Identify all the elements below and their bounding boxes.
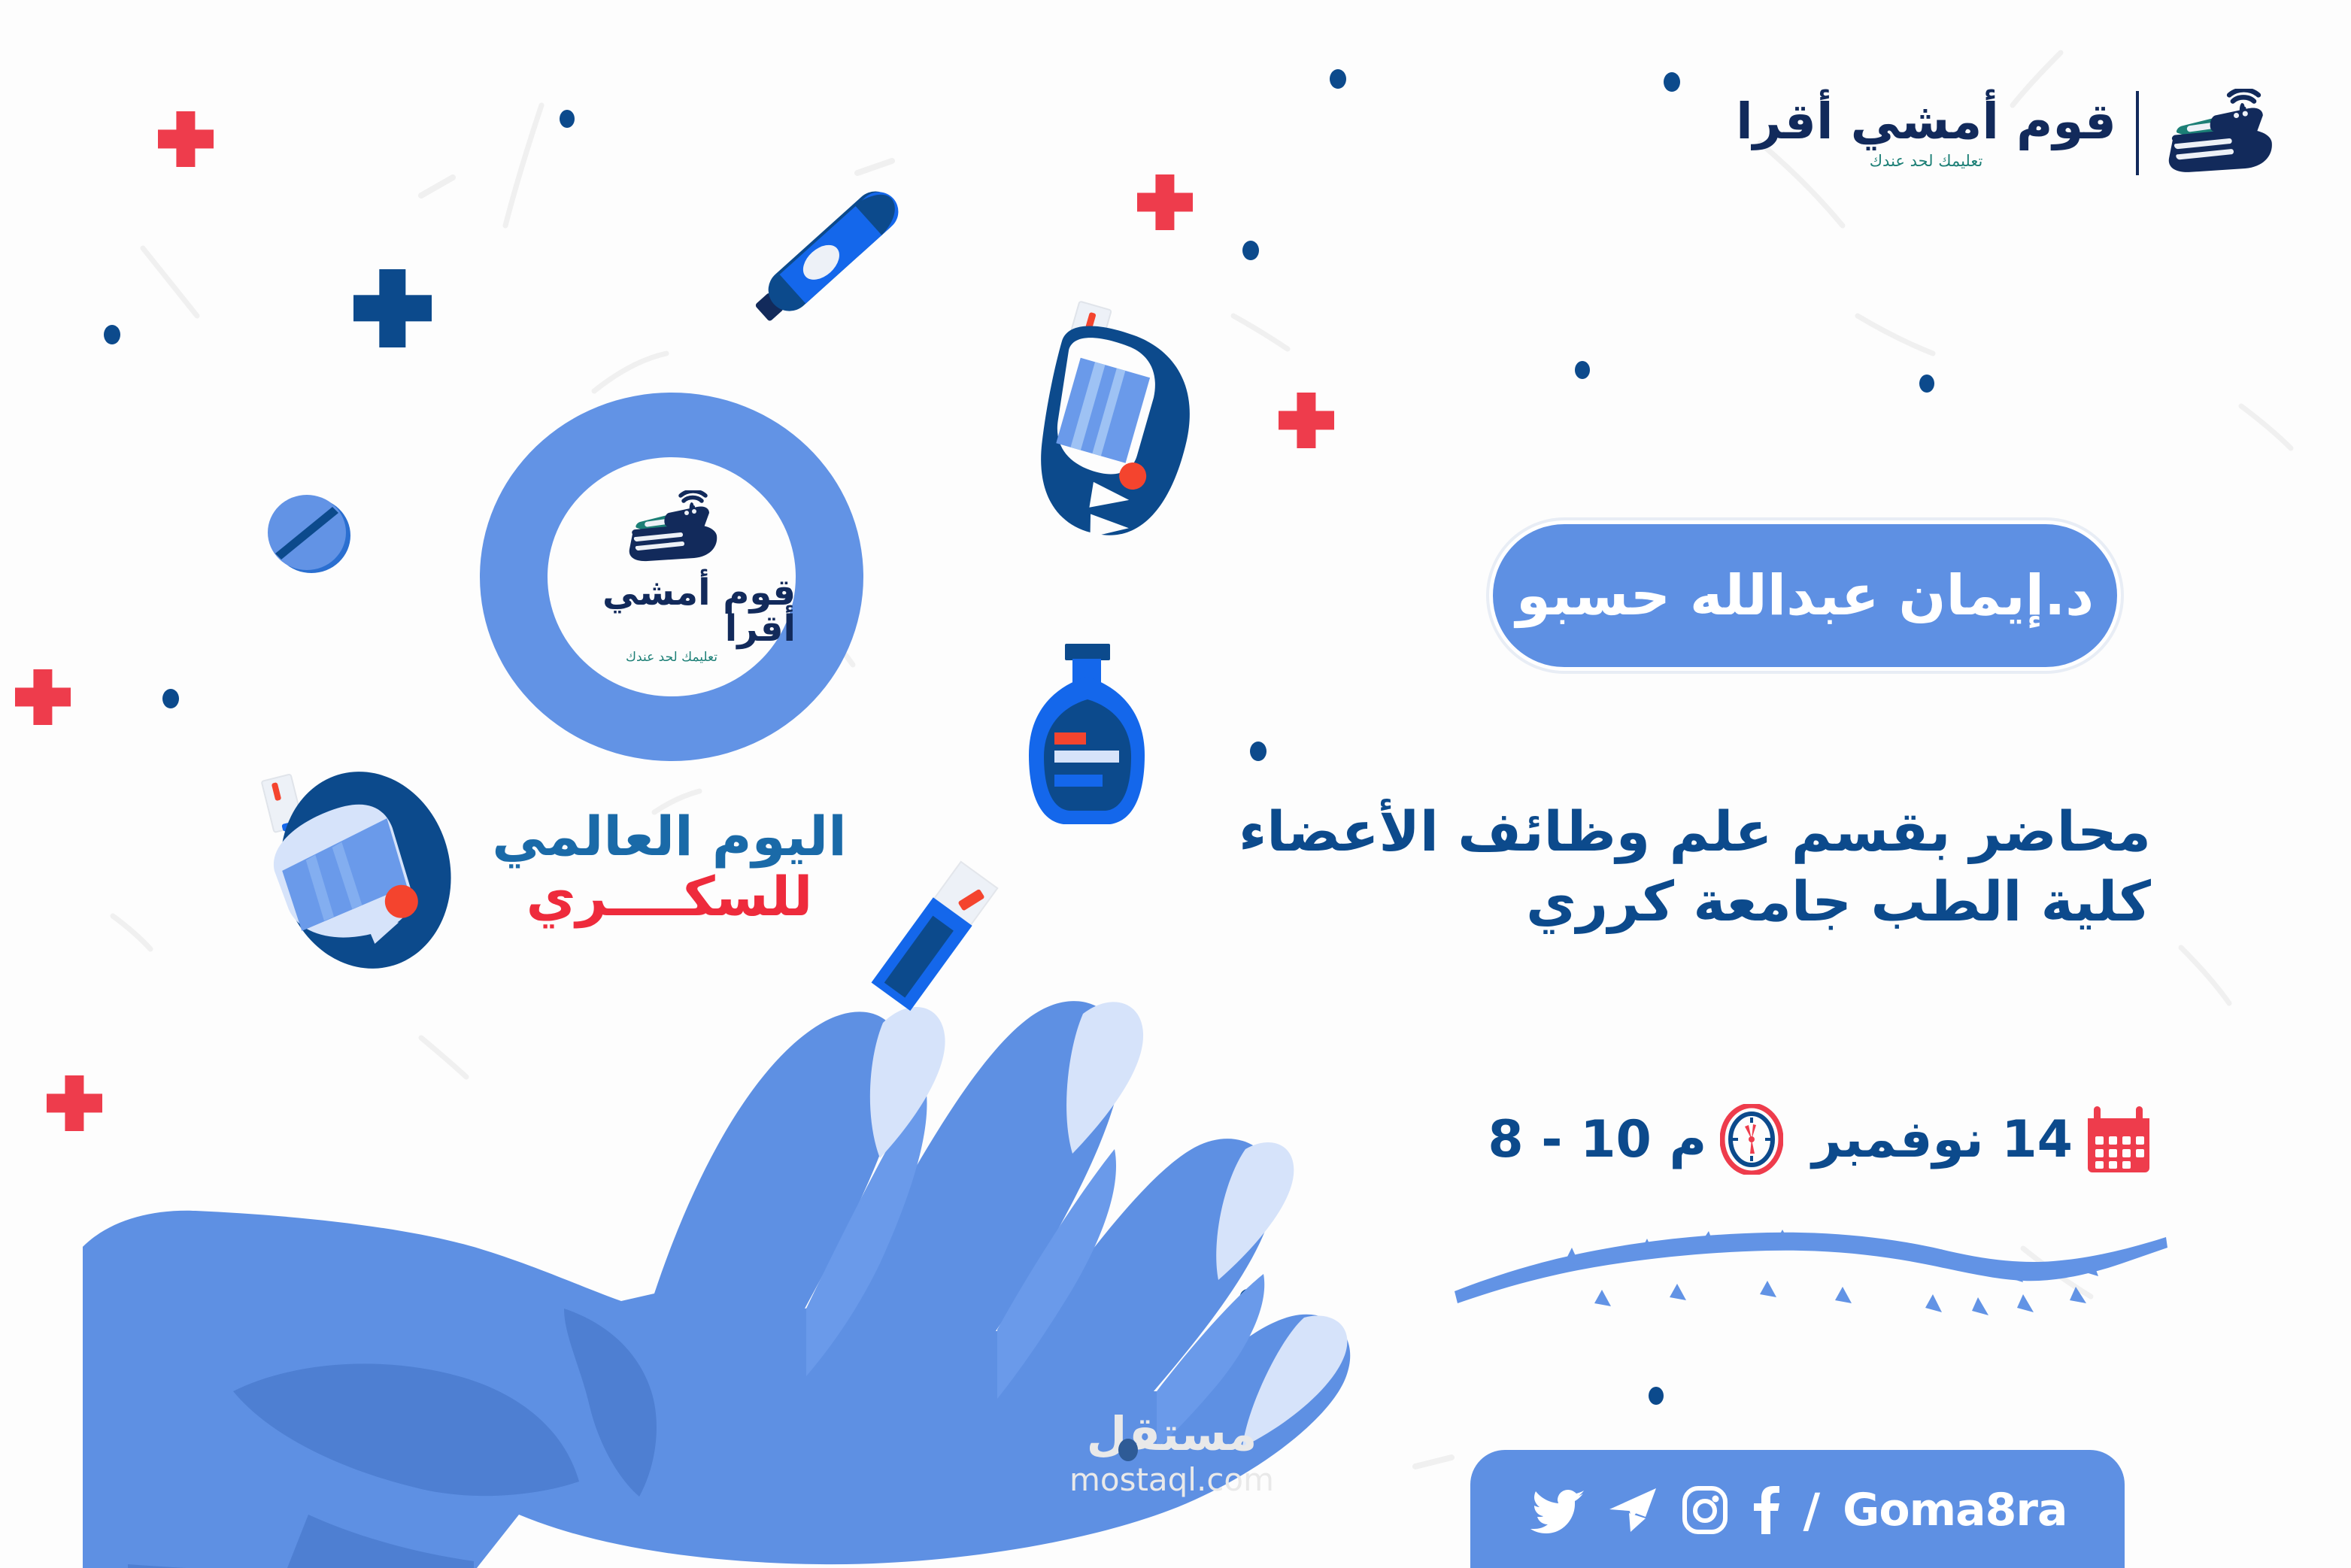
brand-header: قوم أمشي أقرا تعليمك لحد عندك — [1736, 89, 2279, 177]
dot-decoration — [1919, 375, 1934, 393]
brand-divider — [2136, 91, 2139, 175]
dot-decoration — [1330, 69, 1346, 89]
brush-underline-decoration — [1452, 1215, 2174, 1327]
dot-decoration — [1250, 742, 1267, 761]
event-title: اليوم العالمي للسكــــري — [451, 808, 887, 925]
cross-decoration — [1137, 174, 1193, 230]
dot-decoration — [162, 689, 179, 708]
logo-badge: قوم أمشي أقرا تعليمك لحد عندك — [480, 393, 863, 761]
schedule-row: 14 نوفمبر 8 - 10 م — [1444, 1104, 2151, 1175]
dot-decoration — [1649, 1387, 1664, 1405]
cross-decoration — [1279, 393, 1334, 448]
speaker-name: د.إيمان عبدالله حسبو — [1516, 563, 2094, 628]
affiliation-text: محاضر بقسم علم وظائف الأعضاء كلية الطب ج… — [1309, 797, 2151, 938]
event-title-line2: للسكــــري — [451, 869, 887, 926]
brand-tagline: تعليمك لحد عندك — [1736, 153, 2116, 169]
event-time: 8 - 10 م — [1488, 1110, 1706, 1169]
glucose-meter-illustration-top — [1006, 301, 1224, 549]
telegram-icon[interactable] — [1606, 1487, 1659, 1533]
clock-icon — [1720, 1104, 1783, 1175]
brand-text: قوم أمشي أقرا تعليمك لحد عندك — [1736, 97, 2116, 169]
logo-badge-tagline: تعليمك لحد عندك — [626, 651, 717, 664]
watermark: مستقل mostaql.com — [1014, 1411, 1330, 1500]
event-title-line1: اليوم العالمي — [451, 808, 887, 866]
dot-decoration — [1664, 72, 1680, 92]
logo-badge-wordmark: قوم أمشي أقرا — [548, 575, 796, 647]
dot-decoration — [104, 325, 120, 344]
speaker-badge: د.إيمان عبدالله حسبو — [1489, 520, 2121, 671]
cross-decoration — [158, 111, 214, 167]
pill-tablet-illustration — [254, 487, 361, 579]
medicine-bottle-illustration — [1008, 630, 1158, 845]
time-group: 8 - 10 م — [1488, 1104, 1783, 1175]
instagram-icon[interactable] — [1682, 1485, 1728, 1535]
affiliation-line1: محاضر بقسم علم وظائف الأعضاء — [1309, 797, 2151, 867]
facebook-icon[interactable] — [1751, 1485, 1781, 1535]
watermark-arabic: مستقل — [1014, 1411, 1330, 1457]
social-bar[interactable]: / Goma8ra — [1470, 1450, 2125, 1568]
books-with-wifi-icon — [620, 490, 723, 566]
affiliation-line2: كلية الطب جامعة كرري — [1309, 867, 2151, 937]
watermark-dot — [1118, 1439, 1138, 1461]
social-separator: / — [1803, 1483, 1821, 1538]
poster-canvas: قوم أمشي أقرا تعليمك لحد عندك اليوم العا… — [0, 0, 2351, 1568]
books-with-wifi-icon — [2158, 89, 2279, 177]
calendar-icon — [2086, 1105, 2151, 1174]
dot-decoration — [1242, 241, 1259, 260]
logo-badge-inner: قوم أمشي أقرا تعليمك لحد عندك — [548, 457, 796, 696]
watermark-latin: mostaql.com — [1014, 1460, 1330, 1500]
event-date: 14 نوفمبر — [1812, 1110, 2073, 1169]
cross-decoration — [353, 269, 432, 347]
social-handle[interactable]: Goma8ra — [1843, 1484, 2067, 1536]
dot-decoration — [560, 110, 575, 128]
date-group: 14 نوفمبر — [1812, 1105, 2151, 1174]
dot-decoration — [1575, 361, 1590, 379]
cross-decoration — [15, 669, 71, 725]
brand-name: قوم أمشي أقرا — [1736, 97, 2116, 147]
glucose-meter-illustration-left — [248, 737, 474, 978]
insulin-pen-illustration — [737, 174, 933, 340]
twitter-icon[interactable] — [1528, 1487, 1584, 1533]
